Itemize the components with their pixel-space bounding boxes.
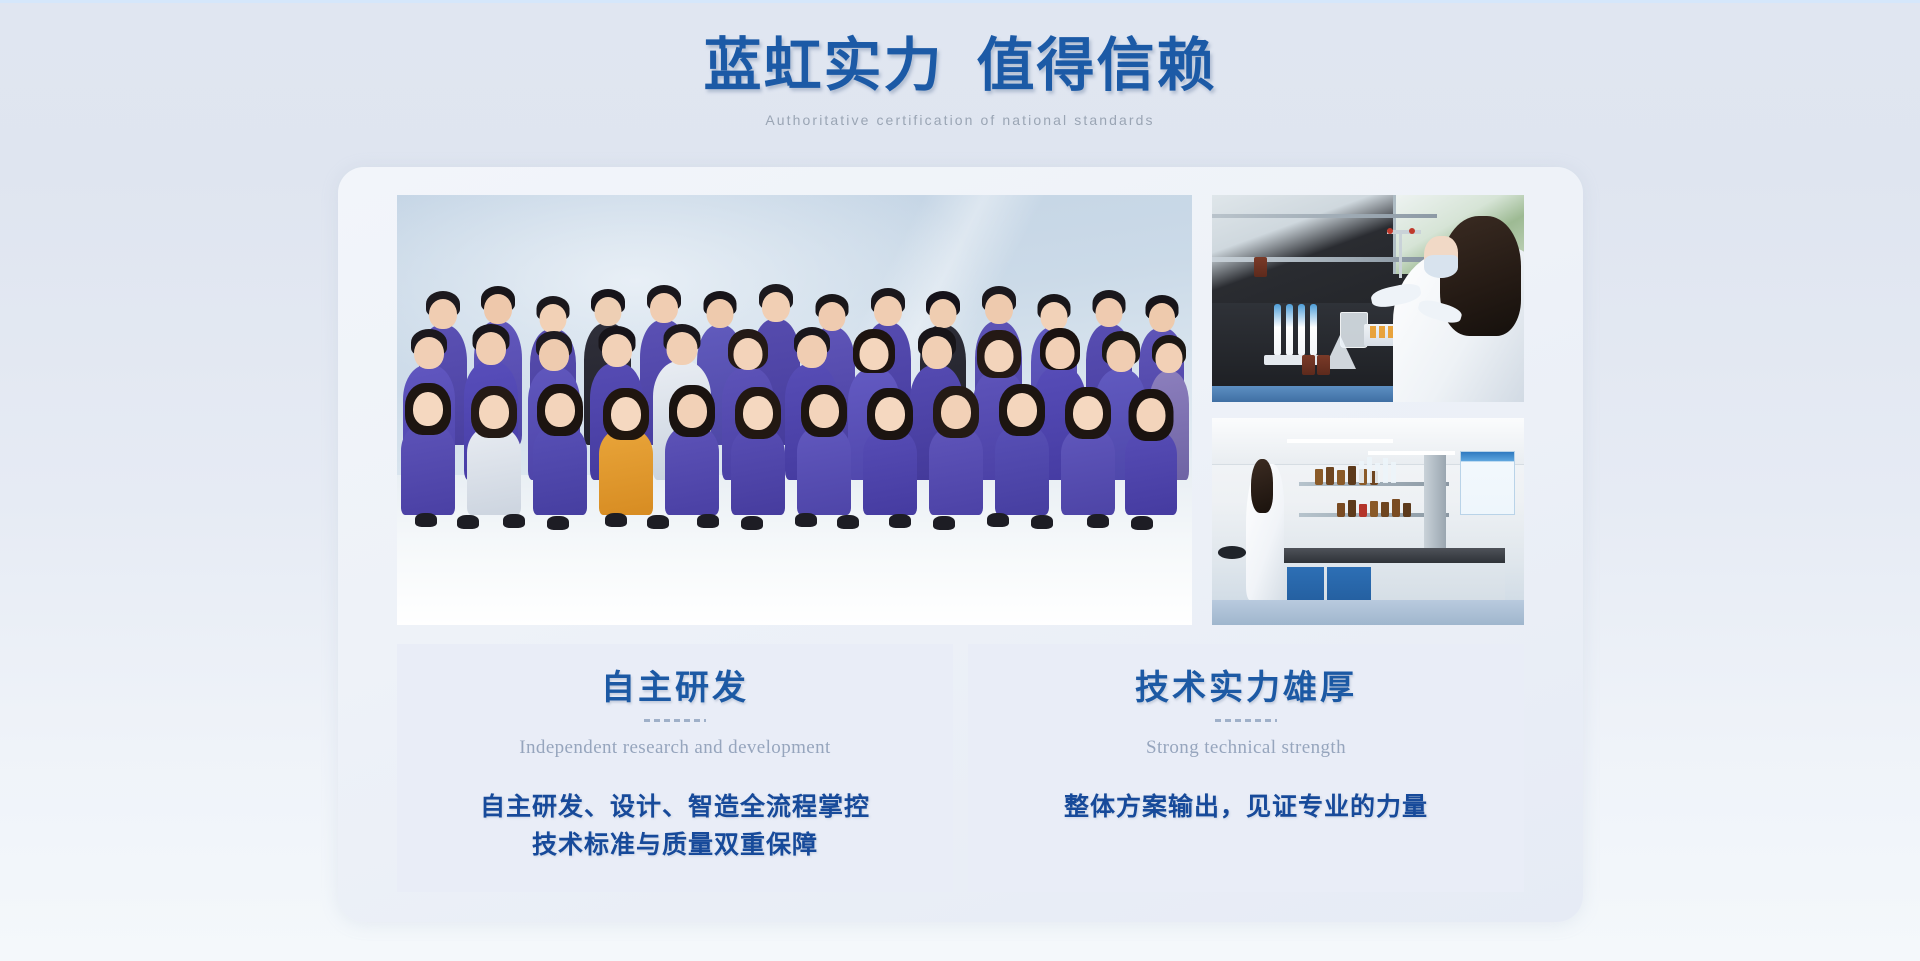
- shoe: [605, 513, 627, 527]
- page-header: 蓝虹实力 值得信赖 Authoritative certification of…: [0, 30, 1920, 128]
- pipette: [1298, 304, 1305, 356]
- shoe: [987, 513, 1009, 527]
- team-member: [995, 424, 1049, 515]
- shoe: [457, 515, 479, 529]
- content-panel: 自主研发 Independent research and developmen…: [338, 167, 1583, 922]
- feature-card-desc-line1: 自主研发、设计、智造全流程掌控: [480, 794, 870, 821]
- shoe: [697, 514, 719, 528]
- team-member: [467, 426, 521, 515]
- shoe: [795, 513, 817, 527]
- feature-card-english: Strong technical strength: [1146, 737, 1346, 759]
- shoe: [1131, 516, 1153, 530]
- team-member: [797, 425, 851, 515]
- reagent-bottle: [1254, 257, 1267, 277]
- team-member: [1125, 429, 1177, 515]
- clamp-knob: [1387, 228, 1393, 234]
- shoe: [1031, 515, 1053, 529]
- team-member: [533, 424, 587, 515]
- lab2-floor: [1212, 600, 1524, 625]
- page-title: 蓝虹实力 值得信赖: [0, 30, 1920, 102]
- team-member: [1061, 427, 1115, 515]
- lab1-upper-shelf: [1212, 214, 1437, 218]
- feature-card-description: 自主研发、设计、智造全流程掌控 技术标准与质量双重保障: [480, 789, 870, 865]
- face-mask: [1424, 255, 1458, 278]
- feature-card-english: Independent research and development: [519, 737, 830, 759]
- feature-card-rd[interactable]: 自主研发 Independent research and developmen…: [397, 644, 953, 892]
- shoe: [647, 515, 669, 529]
- pipette: [1286, 304, 1293, 356]
- lab2-technician-hair: [1251, 459, 1273, 513]
- shoe: [741, 516, 763, 530]
- shoe: [889, 514, 911, 528]
- pipette: [1310, 304, 1317, 356]
- pipette: [1274, 304, 1281, 356]
- feature-card-desc-line1: 整体方案输出，见证专业的力量: [1064, 794, 1428, 821]
- photo-gallery: [397, 195, 1524, 625]
- team-member: [665, 425, 719, 515]
- feature-card-tech[interactable]: 技术实力雄厚 Strong technical strength 整体方案输出，…: [968, 644, 1524, 892]
- glassware-row: [1359, 457, 1396, 483]
- divider-dashes: [644, 719, 706, 722]
- feature-card-desc-line2: 技术标准与质量双重保障: [480, 827, 870, 865]
- shoe: [547, 516, 569, 530]
- team-group-photo[interactable]: [397, 195, 1192, 625]
- lab-photo-pipetting[interactable]: [1212, 195, 1524, 402]
- team-member: [731, 427, 785, 515]
- page-subtitle: Authoritative certification of national …: [0, 112, 1920, 128]
- retort-stand: [1399, 232, 1402, 278]
- shoe: [415, 513, 437, 527]
- shoe: [837, 515, 859, 529]
- shoe: [933, 516, 955, 530]
- team-member: [599, 428, 653, 515]
- reagent-bottle: [1317, 355, 1330, 375]
- shoe: [1087, 514, 1109, 528]
- reagent-bottle-row: [1337, 499, 1411, 517]
- top-hairline: [0, 0, 1920, 3]
- team-member: [863, 428, 917, 515]
- team-member: [929, 426, 983, 515]
- lab-photo-overview[interactable]: [1212, 418, 1524, 625]
- lab1-bench-front: [1212, 386, 1412, 402]
- feature-cards: 自主研发 Independent research and developmen…: [397, 644, 1524, 892]
- divider-dashes: [1215, 719, 1277, 722]
- reagent-bottle: [1302, 355, 1315, 375]
- feature-card-title: 自主研发: [601, 667, 749, 711]
- shoe: [503, 514, 525, 528]
- safety-poster: [1460, 451, 1515, 515]
- feature-card-description: 整体方案输出，见证专业的力量: [1064, 789, 1428, 827]
- lab2-bench-top: [1281, 548, 1506, 562]
- clamp-knob: [1409, 228, 1415, 234]
- lab-stool: [1218, 546, 1246, 558]
- feature-card-title: 技术实力雄厚: [1135, 667, 1357, 711]
- team-member: [401, 423, 455, 515]
